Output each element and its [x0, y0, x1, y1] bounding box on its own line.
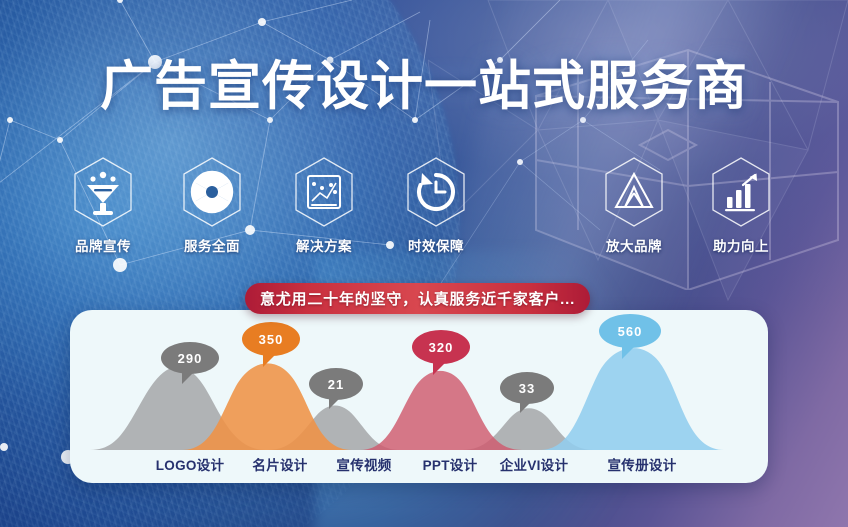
value-bubble-1: 350	[242, 322, 300, 367]
value-label: 33	[519, 381, 535, 396]
value-bubble-4: 33	[500, 372, 554, 413]
value-label: 350	[259, 332, 284, 347]
feature-item-service[interactable]: 服务全面	[166, 155, 258, 255]
feature-icon-row: 品牌宣传 服务全面	[0, 155, 848, 255]
page-title: 广告宣传设计一站式服务商	[0, 56, 848, 118]
value-label: 290	[178, 351, 203, 366]
chart-card: 290 350 21 320	[70, 310, 768, 483]
axis-label: 宣传册设计	[552, 454, 732, 474]
feature-label: 品牌宣传	[57, 235, 149, 255]
feature-item-solution[interactable]: 解决方案	[278, 155, 370, 255]
value-bubble-3: 320	[412, 330, 470, 375]
triangle-icon	[600, 155, 668, 229]
feature-item-timeliness[interactable]: 时效保障	[390, 155, 482, 255]
category-axis: LOGO设计 名片设计 宣传视频 PPT设计 企业VI设计 宣传册设计	[70, 454, 768, 474]
value-label: 560	[618, 324, 643, 339]
line-chart-icon	[290, 155, 358, 229]
bar-chart-up-icon	[707, 155, 775, 229]
clock-rewind-icon	[402, 155, 470, 229]
feature-label: 时效保障	[390, 235, 482, 255]
value-bubble-2: 21	[309, 368, 363, 409]
promo-banner: 意尤用二十年的坚守，认真服务近千家客户...	[245, 283, 590, 314]
aperture-icon	[178, 155, 246, 229]
feature-label: 助力向上	[695, 235, 787, 255]
poster-canvas: 广告宣传设计一站式服务商 品牌宣传	[0, 0, 848, 527]
feature-item-growth[interactable]: 助力向上	[695, 155, 787, 255]
megaphone-trophy-icon	[69, 155, 137, 229]
promo-banner-text: 意尤用二十年的坚守，认真服务近千家客户...	[260, 288, 575, 309]
hill-area-5	[540, 348, 724, 450]
feature-label: 解决方案	[278, 235, 370, 255]
feature-label: 放大品牌	[588, 235, 680, 255]
feature-label: 服务全面	[166, 235, 258, 255]
feature-item-brand[interactable]: 品牌宣传	[57, 155, 149, 255]
value-label: 21	[328, 377, 344, 392]
feature-item-amplify[interactable]: 放大品牌	[588, 155, 680, 255]
value-label: 320	[429, 340, 454, 355]
